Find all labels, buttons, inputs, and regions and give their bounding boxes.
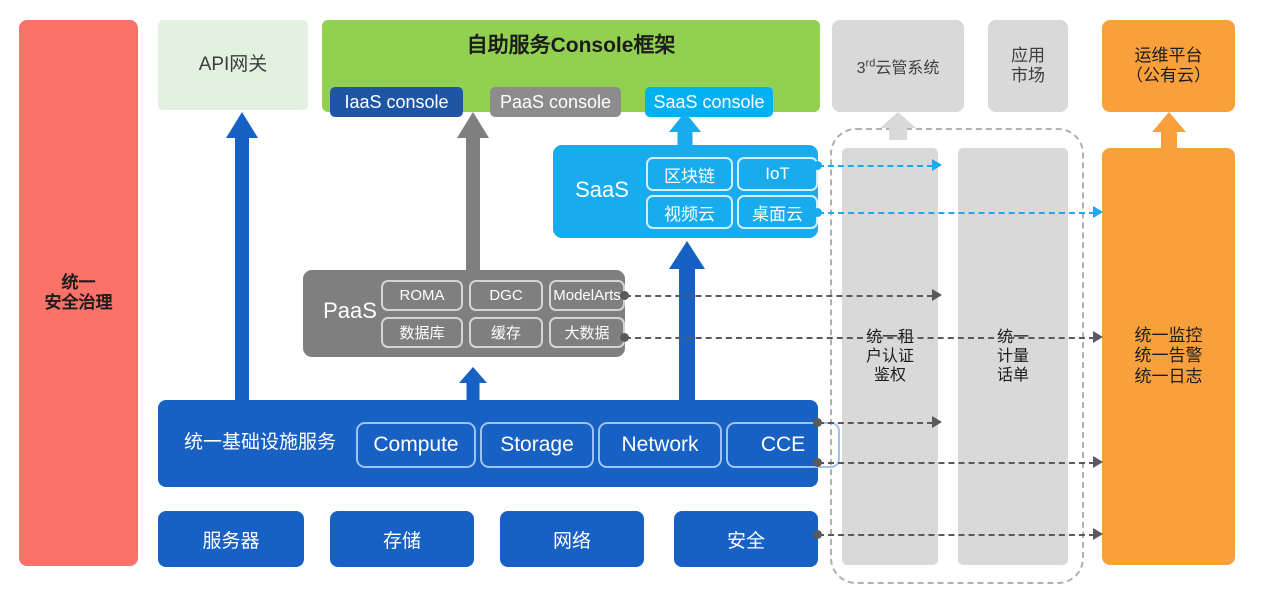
connector-infra-to-auth: [818, 422, 933, 424]
unified-metering-column: 统一 计量 话单: [958, 148, 1068, 565]
paas-console-button[interactable]: PaaS console: [490, 87, 621, 117]
arrow-infra-to-paas: [459, 367, 487, 402]
hardware-server[interactable]: 服务器: [158, 511, 304, 567]
connector-paas-to-ops: [625, 337, 1095, 339]
arrowhead-saas-to-auth: [932, 159, 942, 171]
saas-service-desktop-cloud[interactable]: 桌面云: [737, 195, 818, 229]
paas-layer: PaaS ROMA DGC ModelArts 数据库 缓存 大数据: [303, 270, 625, 357]
paas-service-cache[interactable]: 缓存: [469, 317, 543, 348]
paas-service-dgc[interactable]: DGC: [469, 280, 543, 311]
infrastructure-label: 统一基础设施服务: [170, 427, 350, 454]
arrowhead-paas-to-auth: [932, 289, 942, 301]
app-market-box: 应用 市场: [988, 20, 1068, 112]
paas-service-roma[interactable]: ROMA: [381, 280, 463, 311]
connector-hardware-to-ops: [818, 534, 1095, 536]
api-gateway-box: API网关: [158, 20, 308, 110]
console-framework-title: 自助服务Console框架: [322, 29, 820, 59]
third-party-cloud-label: 3rd云管系统: [857, 54, 940, 78]
ops-monitoring-label: 统一监控 统一告警 统一日志: [1135, 326, 1203, 387]
connector-infra-to-ops: [818, 462, 1095, 464]
ops-platform-box: 运维平台 （公有云）: [1102, 20, 1235, 112]
paas-service-database[interactable]: 数据库: [381, 317, 463, 348]
arrowhead-paas-to-ops: [1093, 331, 1103, 343]
hardware-network[interactable]: 网络: [500, 511, 644, 567]
iaas-console-button[interactable]: IaaS console: [330, 87, 463, 117]
arrow-ops-panel-to-ops-platform: [1152, 112, 1186, 149]
arrow-saas-to-console: [669, 112, 701, 148]
paas-label: PaaS: [311, 298, 389, 324]
arrow-infra-to-saas: [669, 241, 705, 402]
connector-paas-to-auth: [625, 295, 933, 297]
arrow-zone-to-third-party-cloud: [880, 112, 916, 140]
ops-monitoring-panel: 统一监控 统一告警 统一日志: [1102, 148, 1235, 565]
arrowhead-infra-to-ops: [1093, 456, 1103, 468]
third-party-cloud-box: 3rd云管系统: [832, 20, 964, 112]
saas-layer: SaaS 区块链 IoT 视频云 桌面云: [553, 145, 818, 238]
arrowhead-hardware-to-ops: [1093, 528, 1103, 540]
security-governance-panel: 统一 安全治理: [19, 20, 138, 566]
hardware-storage[interactable]: 存储: [330, 511, 474, 567]
arrow-infra-to-api-gateway: [226, 112, 258, 402]
architecture-diagram: 统一 安全治理 API网关 自助服务Console框架 IaaS console…: [0, 0, 1265, 605]
paas-service-modelarts[interactable]: ModelArts: [549, 280, 625, 311]
arrowhead-infra-to-auth: [932, 416, 942, 428]
console-framework-box: 自助服务Console框架 IaaS console PaaS console …: [322, 20, 820, 112]
connector-saas-to-auth: [818, 165, 933, 167]
ops-platform-label: 运维平台 （公有云）: [1126, 46, 1211, 87]
arrow-paas-to-console: [457, 112, 489, 272]
connector-saas-to-ops: [818, 212, 1095, 214]
saas-label: SaaS: [563, 177, 641, 203]
infra-service-network[interactable]: Network: [598, 422, 722, 468]
hardware-security[interactable]: 安全: [674, 511, 818, 567]
paas-service-bigdata[interactable]: 大数据: [549, 317, 625, 348]
app-market-label: 应用 市场: [1011, 46, 1045, 87]
infra-service-compute[interactable]: Compute: [356, 422, 476, 468]
infra-service-storage[interactable]: Storage: [480, 422, 594, 468]
arrowhead-saas-to-ops: [1093, 206, 1103, 218]
unified-tenant-auth-column: 统一租 户认证 鉴权: [842, 148, 938, 565]
security-governance-label: 统一 安全治理: [45, 273, 113, 314]
saas-console-button[interactable]: SaaS console: [645, 87, 773, 117]
infrastructure-layer: 统一基础设施服务 Compute Storage Network CCE: [158, 400, 818, 487]
saas-service-video-cloud[interactable]: 视频云: [646, 195, 733, 229]
api-gateway-label: API网关: [199, 54, 268, 77]
saas-service-blockchain[interactable]: 区块链: [646, 157, 733, 191]
saas-service-iot[interactable]: IoT: [737, 157, 818, 191]
